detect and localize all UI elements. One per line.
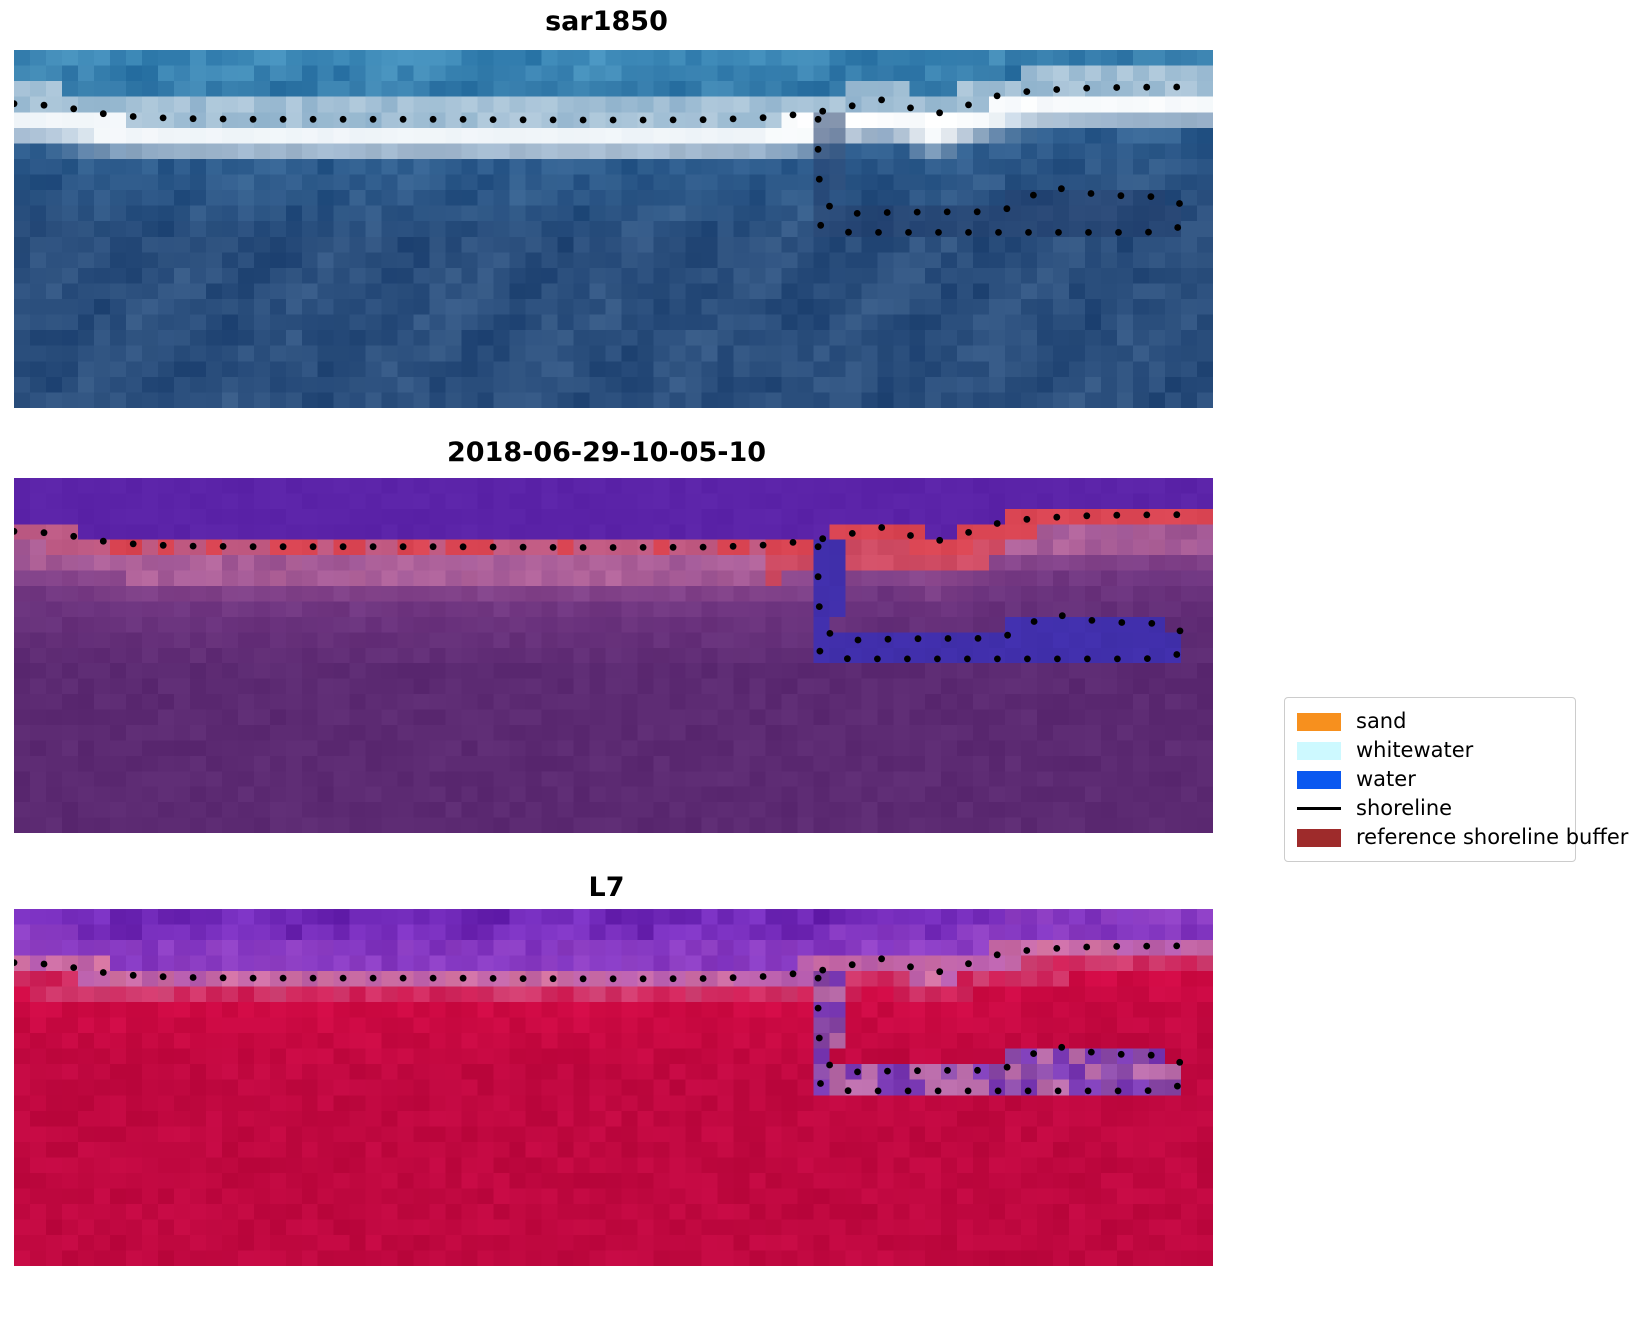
shoreline-dot: [1143, 512, 1150, 519]
legend: sandwhitewaterwatershorelinereference sh…: [1284, 697, 1576, 862]
legend-item-water: water: [1297, 765, 1563, 794]
shoreline-dot: [1174, 1083, 1181, 1090]
shoreline-dot: [670, 117, 677, 124]
shoreline-dot: [130, 541, 137, 548]
shoreline-dot: [14, 528, 17, 535]
shoreline-dot: [849, 961, 856, 968]
shoreline-dot: [1143, 84, 1150, 91]
shoreline-dot: [944, 209, 951, 216]
shoreline-dot: [520, 975, 527, 982]
shoreline-dot: [1115, 229, 1122, 236]
legend-swatch-reference-shoreline-buffer: [1297, 829, 1341, 847]
shoreline-dot: [190, 974, 197, 981]
shoreline-dot: [1053, 514, 1060, 521]
shoreline-dot: [905, 1088, 912, 1095]
shoreline-dot: [580, 975, 587, 982]
shoreline-dot: [1118, 1051, 1125, 1058]
shoreline-dot: [220, 974, 227, 981]
shoreline-dot: [760, 542, 767, 549]
legend-swatch-water: [1297, 771, 1341, 789]
shoreline-dot: [815, 146, 822, 153]
shoreline-dot: [854, 1069, 861, 1076]
panel-image-l7: [14, 909, 1213, 1266]
shoreline-dot: [70, 533, 77, 540]
shoreline-dot: [1055, 229, 1062, 236]
shoreline-dot: [1053, 86, 1060, 93]
legend-swatch-sand: [1297, 713, 1341, 731]
shoreline-dot: [430, 975, 437, 982]
shoreline-dot: [994, 656, 1001, 663]
shoreline-dot: [878, 955, 885, 962]
shoreline-dot: [907, 963, 914, 970]
legend-item-shoreline: shoreline: [1297, 794, 1563, 823]
shoreline-dot: [1118, 619, 1125, 626]
shoreline-dot: [700, 544, 707, 551]
shoreline-dot: [965, 229, 972, 236]
shoreline-dot: [580, 117, 587, 124]
shoreline-dot: [100, 969, 107, 976]
shoreline-dot: [915, 635, 922, 642]
shoreline-dot: [1004, 632, 1011, 639]
shoreline-dot: [1058, 1044, 1065, 1051]
shoreline-dot: [160, 973, 167, 980]
shoreline-dot: [130, 972, 137, 979]
shoreline-overlay: [14, 50, 1213, 408]
shoreline-dot: [885, 636, 892, 643]
shoreline-dot: [670, 975, 677, 982]
shoreline-dot: [1143, 943, 1150, 950]
panel-2018-06-29-10-05-10: 2018-06-29-10-05-10: [0, 430, 1213, 840]
shoreline-dot: [817, 222, 824, 229]
shoreline-dot: [995, 1088, 1002, 1095]
shoreline-dot: [220, 543, 227, 550]
shoreline-dot: [430, 543, 437, 550]
shoreline-dot: [490, 975, 497, 982]
shoreline-overlay: [14, 909, 1213, 1266]
shoreline-dot: [1148, 620, 1155, 627]
shoreline-dot: [610, 117, 617, 124]
shoreline-dot: [41, 102, 48, 109]
shoreline-dot: [1173, 84, 1180, 91]
shoreline-dot: [790, 539, 797, 546]
shoreline-dot: [914, 209, 921, 216]
shoreline-dot: [14, 959, 17, 966]
legend-item-sand: sand: [1297, 707, 1563, 736]
shoreline-dot: [220, 116, 227, 123]
shoreline-dot: [878, 97, 885, 104]
shoreline-dot: [849, 530, 856, 537]
shoreline-dot: [1148, 193, 1155, 200]
shoreline-dot: [1115, 1088, 1122, 1095]
shoreline-dot: [550, 544, 557, 551]
shoreline-dot: [41, 961, 48, 968]
shoreline-dot: [1177, 628, 1184, 635]
shoreline-dot: [1173, 943, 1180, 950]
shoreline-dot: [884, 1068, 891, 1075]
shoreline-dot: [849, 102, 856, 109]
shoreline-dot: [670, 544, 677, 551]
shoreline-dot: [874, 656, 881, 663]
shoreline-dot: [1114, 656, 1121, 663]
shoreline-dot: [760, 973, 767, 980]
shoreline-dot: [730, 543, 737, 550]
shoreline-dot: [826, 1062, 833, 1069]
shoreline-dot: [400, 116, 407, 123]
shoreline-dot: [817, 1080, 824, 1087]
shoreline-dot: [250, 116, 257, 123]
legend-swatch-shoreline: [1297, 807, 1341, 810]
shoreline-dot: [878, 524, 885, 531]
shoreline-dot: [1148, 1052, 1155, 1059]
shoreline-dot: [520, 116, 527, 123]
legend-label-sand: sand: [1356, 711, 1406, 732]
shoreline-dot: [994, 951, 1001, 958]
shoreline-dot: [1004, 1064, 1011, 1071]
shoreline-dot: [250, 975, 257, 982]
shoreline-dot: [1058, 185, 1065, 192]
shoreline-dot: [550, 117, 557, 124]
shoreline-dot: [640, 117, 647, 124]
shoreline-dot: [816, 176, 823, 183]
shoreline-dot: [936, 109, 943, 116]
shoreline-dot: [1089, 617, 1096, 624]
shoreline-dot: [974, 1067, 981, 1074]
shoreline-dot: [190, 115, 197, 122]
legend-item-whitewater: whitewater: [1297, 736, 1563, 765]
shoreline-dot: [1030, 1050, 1037, 1057]
shoreline-dot: [280, 975, 287, 982]
shoreline-dot: [580, 544, 587, 551]
shoreline-dot: [816, 603, 823, 610]
shoreline-dot: [760, 114, 767, 121]
shoreline-overlay: [14, 478, 1213, 833]
legend-label-water: water: [1356, 769, 1416, 790]
shoreline-dot: [1176, 200, 1183, 207]
shoreline-dot: [1054, 656, 1061, 663]
shoreline-dot: [875, 1088, 882, 1095]
shoreline-dot: [1004, 205, 1011, 212]
shoreline-dot: [400, 543, 407, 550]
shoreline-dot: [827, 630, 834, 637]
shoreline-dot: [975, 635, 982, 642]
shoreline-dot: [70, 964, 77, 971]
shoreline-dot: [1118, 192, 1125, 199]
shoreline-dot: [1083, 512, 1090, 519]
shoreline-dot: [1085, 229, 1092, 236]
shoreline-dot: [790, 112, 797, 119]
shoreline-dot: [430, 116, 437, 123]
figure-root: sar1850 2018-06-29-10-05-10 L7 sandwhite…: [0, 0, 1643, 1337]
shoreline-dot: [855, 637, 862, 644]
shoreline-dot: [1030, 192, 1037, 199]
shoreline-dot: [936, 968, 943, 975]
shoreline-dot: [370, 975, 377, 982]
shoreline-dot: [845, 229, 852, 236]
shoreline-dot: [1174, 224, 1181, 231]
shoreline-dot: [70, 105, 77, 112]
shoreline-dot: [370, 116, 377, 123]
shoreline-dot: [1023, 947, 1030, 954]
panel-image-2018-06-29-10-05-10: [14, 478, 1213, 833]
shoreline-dot: [1024, 516, 1031, 523]
shoreline-dot: [994, 93, 1001, 100]
shoreline-dot: [815, 975, 822, 982]
shoreline-dot: [370, 543, 377, 550]
shoreline-dot: [1113, 84, 1120, 91]
shoreline-dot: [700, 975, 707, 982]
shoreline-dot: [310, 543, 317, 550]
shoreline-dot: [610, 975, 617, 982]
shoreline-dot: [819, 967, 826, 974]
shoreline-dot: [1025, 1088, 1032, 1095]
shoreline-dot: [974, 208, 981, 215]
shoreline-dot: [100, 110, 107, 117]
shoreline-dot: [907, 532, 914, 539]
shoreline-dot: [340, 975, 347, 982]
shoreline-dot: [826, 203, 833, 210]
shoreline-dot: [905, 229, 912, 236]
shoreline-dot: [310, 116, 317, 123]
shoreline-dot: [965, 1088, 972, 1095]
shoreline-dot: [965, 102, 972, 109]
shoreline-dot: [934, 656, 941, 663]
legend-label-reference-shoreline-buffer: reference shoreline buffer: [1356, 827, 1628, 848]
shoreline-dot: [280, 116, 287, 123]
shoreline-dot: [14, 100, 17, 107]
shoreline-dot: [964, 656, 971, 663]
panel-sar1850: sar1850: [0, 0, 1213, 420]
shoreline-dot: [815, 1005, 822, 1012]
shoreline-dot: [730, 116, 737, 123]
shoreline-dot: [994, 520, 1001, 527]
shoreline-dot: [310, 975, 317, 982]
shoreline-dot: [1024, 656, 1031, 663]
shoreline-dot: [935, 229, 942, 236]
shoreline-dot: [1025, 229, 1032, 236]
legend-label-whitewater: whitewater: [1356, 740, 1473, 761]
shoreline-dot: [1088, 190, 1095, 197]
shoreline-dot: [400, 975, 407, 982]
shoreline-dot: [160, 115, 167, 122]
shoreline-dot: [41, 529, 48, 536]
shoreline-dot: [907, 105, 914, 112]
shoreline-dot: [160, 542, 167, 549]
shoreline-dot: [1031, 618, 1038, 625]
panel-title-sar1850: sar1850: [0, 6, 1213, 37]
shoreline-dot: [935, 1088, 942, 1095]
shoreline-dot: [1088, 1049, 1095, 1056]
legend-label-shoreline: shoreline: [1356, 798, 1452, 819]
shoreline-dot: [884, 209, 891, 216]
shoreline-dot: [550, 975, 557, 982]
shoreline-dot: [490, 544, 497, 551]
shoreline-dot: [1053, 945, 1060, 952]
shoreline-dot: [1173, 651, 1180, 658]
shoreline-dot: [340, 543, 347, 550]
shoreline-dot: [640, 975, 647, 982]
shoreline-dot: [1173, 511, 1180, 518]
shoreline-dot: [1085, 1088, 1092, 1095]
shoreline-dot: [280, 543, 287, 550]
shoreline-dot: [844, 655, 851, 662]
shoreline-dot: [936, 537, 943, 544]
shoreline-dot: [460, 543, 467, 550]
shoreline-dot: [815, 573, 822, 580]
shoreline-dot: [1023, 88, 1030, 95]
shoreline-dot: [340, 116, 347, 123]
shoreline-dot: [730, 974, 737, 981]
shoreline-dot: [1113, 512, 1120, 519]
legend-swatch-whitewater: [1297, 742, 1341, 760]
shoreline-dot: [995, 229, 1002, 236]
shoreline-dot: [1083, 85, 1090, 92]
shoreline-dot: [490, 116, 497, 123]
shoreline-dot: [1144, 655, 1151, 662]
shoreline-dot: [815, 116, 822, 123]
shoreline-dot: [130, 113, 137, 120]
shoreline-dot: [914, 1067, 921, 1074]
panel-l7: L7: [0, 865, 1213, 1275]
shoreline-dot: [610, 544, 617, 551]
shoreline-dot: [1084, 656, 1091, 663]
shoreline-dot: [944, 1067, 951, 1074]
panel-image-sar1850: [14, 50, 1213, 408]
shoreline-dot: [1083, 944, 1090, 951]
shoreline-dot: [965, 529, 972, 536]
shoreline-dot: [520, 544, 527, 551]
shoreline-dot: [1059, 612, 1066, 619]
shoreline-dot: [965, 960, 972, 967]
shoreline-dot: [854, 210, 861, 217]
shoreline-dot: [100, 538, 107, 545]
shoreline-dot: [819, 108, 826, 115]
panel-title-l7: L7: [0, 872, 1213, 903]
shoreline-dot: [1176, 1059, 1183, 1066]
shoreline-dot: [250, 543, 257, 550]
shoreline-dot: [1145, 1087, 1152, 1094]
shoreline-dot: [845, 1087, 852, 1094]
legend-item-reference-shoreline-buffer: reference shoreline buffer: [1297, 823, 1563, 852]
shoreline-dot: [790, 970, 797, 977]
shoreline-dot: [700, 116, 707, 123]
shoreline-dot: [904, 656, 911, 663]
shoreline-dot: [1145, 229, 1152, 236]
shoreline-dot: [819, 535, 826, 542]
shoreline-dot: [1055, 1088, 1062, 1095]
shoreline-dot: [817, 648, 824, 655]
shoreline-dot: [815, 543, 822, 550]
shoreline-dot: [945, 635, 952, 642]
shoreline-dot: [875, 229, 882, 236]
panel-title-2018-06-29-10-05-10: 2018-06-29-10-05-10: [0, 437, 1213, 468]
shoreline-dot: [190, 543, 197, 550]
shoreline-dot: [640, 544, 647, 551]
shoreline-dot: [1113, 943, 1120, 950]
shoreline-dot: [460, 116, 467, 123]
shoreline-dot: [460, 975, 467, 982]
shoreline-dot: [816, 1035, 823, 1042]
